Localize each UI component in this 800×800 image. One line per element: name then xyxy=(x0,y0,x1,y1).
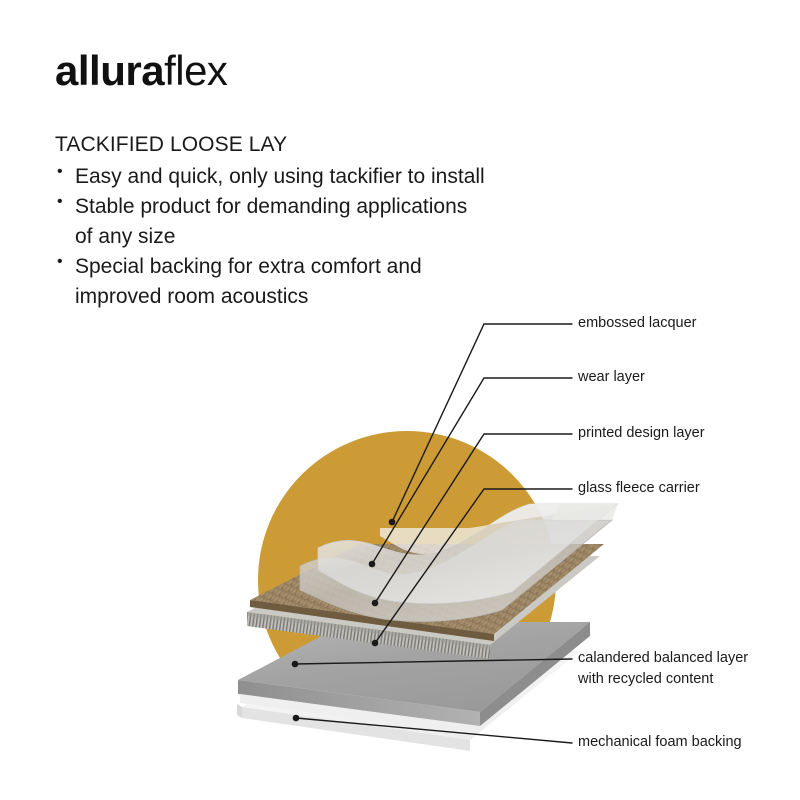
callout-label-calandered-balanced-layer: calandered balanced layer with recycled … xyxy=(578,648,748,690)
anchor-dot-calandered-balanced-layer xyxy=(292,661,299,668)
slab-top-edge-highlight xyxy=(552,504,618,520)
callout-label-wear-layer: wear layer xyxy=(578,367,645,388)
product-diagram-page: alluraflex TACKIFIED LOOSE LAY Easy and … xyxy=(0,0,800,800)
callout-label-mechanical-foam-backing: mechanical foam backing xyxy=(578,732,742,753)
callout-text-line1: calandered balanced layer xyxy=(578,648,748,669)
callout-text: embossed lacquer xyxy=(578,315,697,331)
anchor-dot-printed-design-layer xyxy=(372,600,379,607)
callout-text: glass fleece carrier xyxy=(578,480,700,496)
anchor-dot-glass-fleece-carrier xyxy=(372,640,379,647)
callout-label-embossed-lacquer: embossed lacquer xyxy=(578,313,697,334)
callout-text: printed design layer xyxy=(578,425,705,441)
callout-text-line2: with recycled content xyxy=(578,669,748,690)
callout-text: wear layer xyxy=(578,369,645,385)
anchor-dot-wear-layer xyxy=(369,561,376,568)
callout-text: mechanical foam backing xyxy=(578,734,742,750)
anchor-dot-mechanical-foam-backing xyxy=(293,715,300,722)
callout-label-glass-fleece-carrier: glass fleece carrier xyxy=(578,478,700,499)
callout-label-printed-design-layer: printed design layer xyxy=(578,423,705,444)
anchor-dot-embossed-lacquer xyxy=(389,519,396,526)
